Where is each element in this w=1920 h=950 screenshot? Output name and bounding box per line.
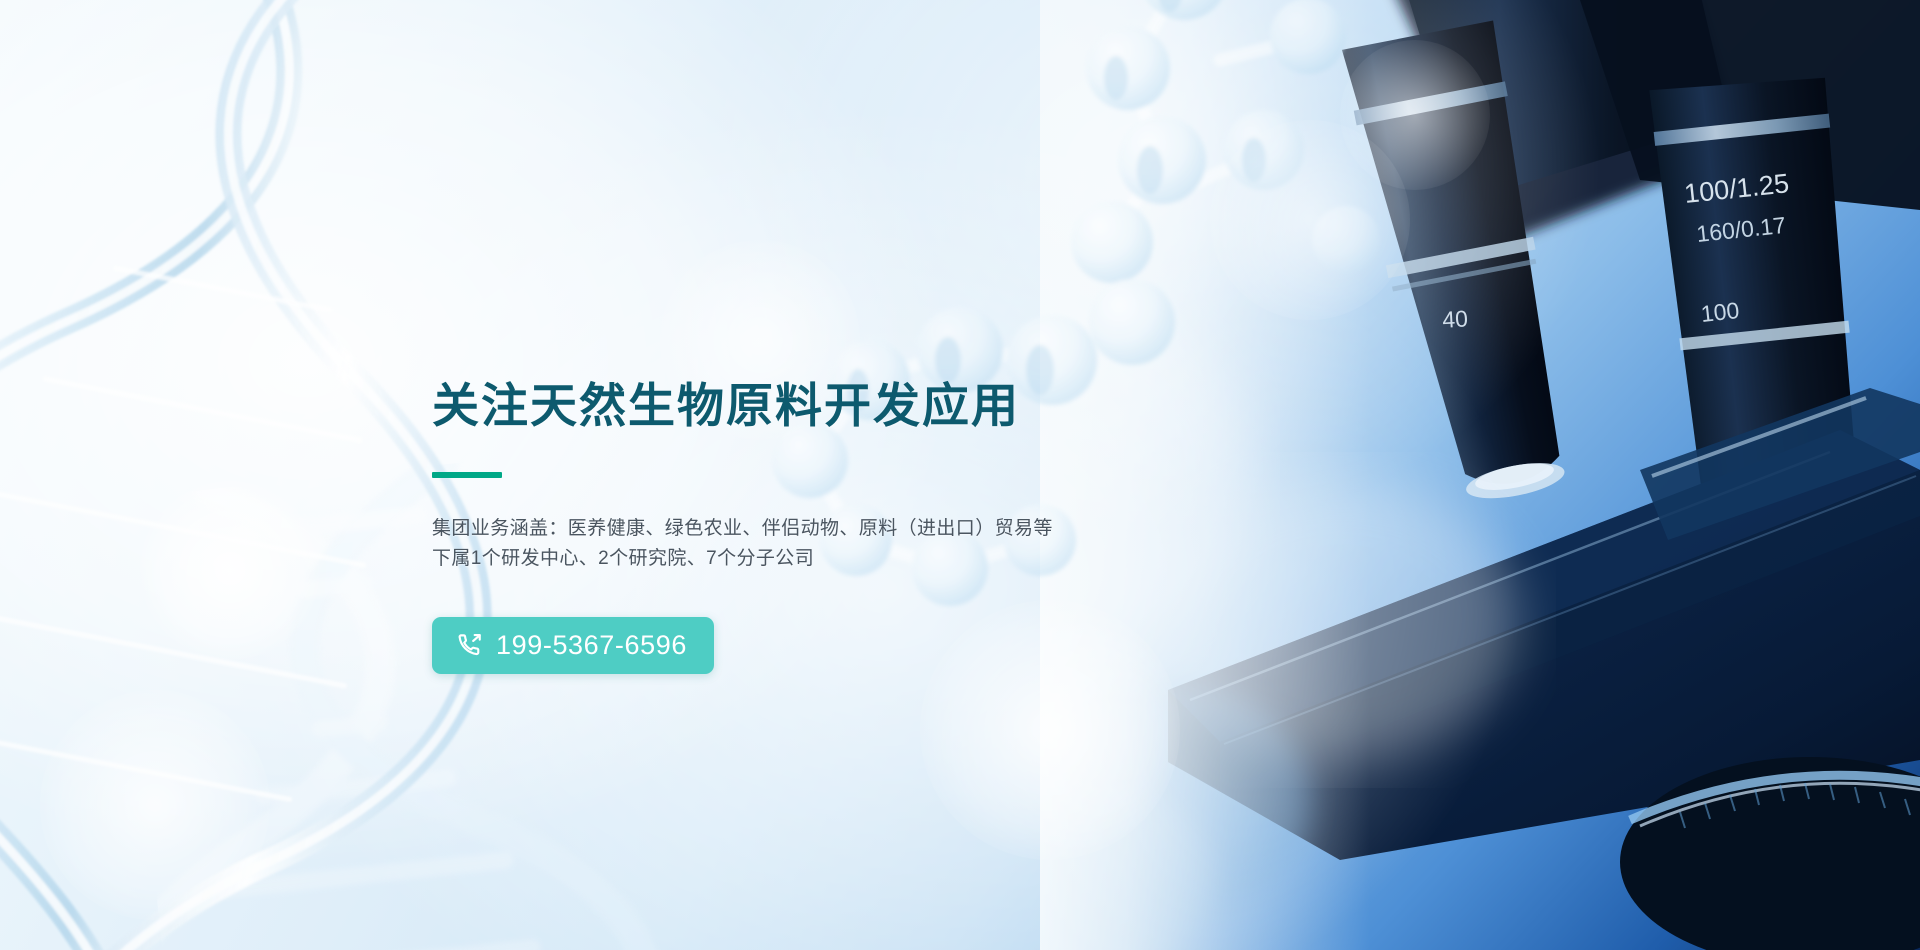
hero-banner: 40 100/1.25 160/0.17 100	[0, 0, 1920, 950]
hero-description: 集团业务涵盖：医养健康、绿色农业、伴侣动物、原料（进出口）贸易等 下属1个研发中…	[432, 514, 1332, 576]
phone-outgoing-icon	[456, 632, 483, 659]
phone-number-label: 199-5367-6596	[496, 632, 687, 659]
description-line-1: 集团业务涵盖：医养健康、绿色农业、伴侣动物、原料（进出口）贸易等	[432, 514, 1332, 545]
hero-content: 关注天然生物原料开发应用 集团业务涵盖：医养健康、绿色农业、伴侣动物、原料（进出…	[432, 380, 1332, 674]
title-divider	[432, 472, 502, 478]
description-line-2: 下属1个研发中心、2个研究院、7个分子公司	[432, 544, 1332, 575]
phone-cta-button[interactable]: 199-5367-6596	[432, 617, 714, 674]
page-title: 关注天然生物原料开发应用	[432, 380, 1332, 432]
